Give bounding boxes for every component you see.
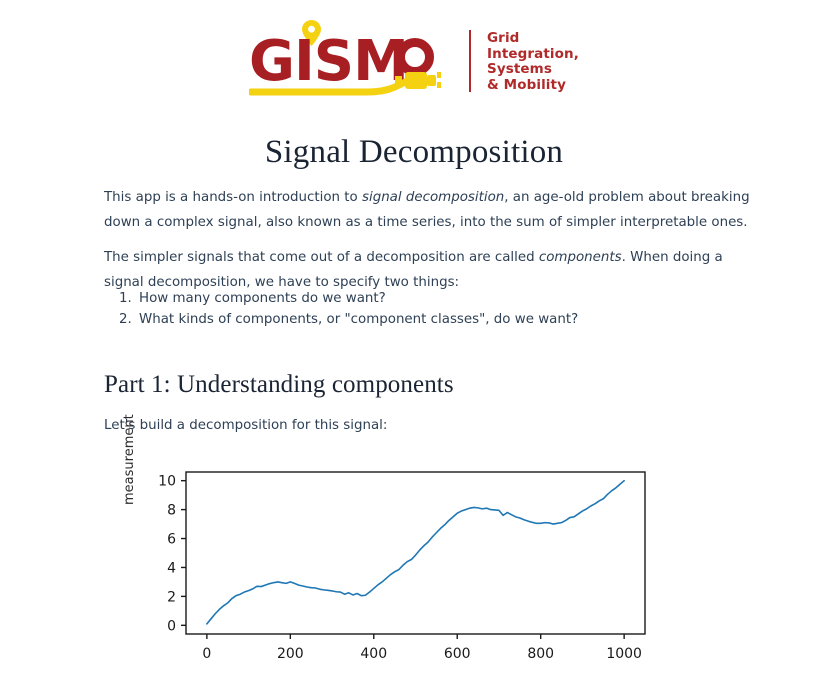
x-tick-label: 0 (202, 646, 211, 662)
chart-svg: 024681002004006008001000 (104, 442, 724, 688)
gismo-wordmark: GISM (249, 18, 459, 104)
app-page: GISM Grid Integration, Systems & Mobilit… (0, 0, 828, 688)
list-item: What kinds of components, or "component … (136, 309, 776, 330)
logo-tagline: Grid Integration, Systems & Mobility (487, 29, 579, 93)
components-emphasis: components (539, 250, 622, 265)
section-heading-part1: Part 1: Understanding components (104, 371, 454, 399)
plug-prong-bottom-icon (437, 82, 441, 88)
components-text-a: The simpler signals that come out of a d… (104, 250, 539, 265)
x-tick-label: 600 (444, 646, 471, 662)
logo-header: GISM Grid Integration, Systems & Mobilit… (0, 18, 828, 104)
y-tick-label: 6 (167, 532, 176, 548)
x-tick-label: 1000 (606, 646, 642, 662)
signal-chart: 024681002004006008001000 (104, 442, 724, 688)
logo-letter-o (401, 43, 430, 72)
y-tick-label: 10 (158, 474, 176, 490)
cord-joint-icon (395, 76, 402, 85)
y-tick-label: 2 (167, 589, 176, 605)
plug-head-icon (427, 75, 436, 86)
y-tick-label: 8 (167, 503, 176, 519)
gismo-logo-svg: GISM (249, 18, 459, 104)
plug-body-icon (405, 72, 427, 89)
intro-emphasis: signal decomposition (362, 190, 504, 205)
plug-prong-top-icon (437, 72, 441, 78)
intro-text-a: This app is a hands-on introduction to (104, 190, 362, 205)
chart-axes-frame (186, 472, 645, 634)
logo-letters: GISM (249, 29, 408, 94)
logo-divider (469, 30, 471, 92)
list-item: How many components do we want? (136, 288, 776, 309)
x-tick-label: 400 (360, 646, 387, 662)
y-tick-label: 0 (167, 618, 176, 634)
y-tick-label: 4 (167, 560, 176, 576)
x-tick-label: 200 (277, 646, 304, 662)
specification-list: How many components do we want? What kin… (104, 288, 776, 330)
intro-paragraph: This app is a hands-on introduction to s… (104, 185, 752, 235)
chart-line-measurement (207, 481, 624, 624)
x-tick-label: 800 (527, 646, 554, 662)
page-title: Signal Decomposition (0, 134, 828, 171)
build-paragraph: Let's build a decomposition for this sig… (104, 413, 752, 438)
gismo-logo: GISM Grid Integration, Systems & Mobilit… (249, 18, 579, 104)
